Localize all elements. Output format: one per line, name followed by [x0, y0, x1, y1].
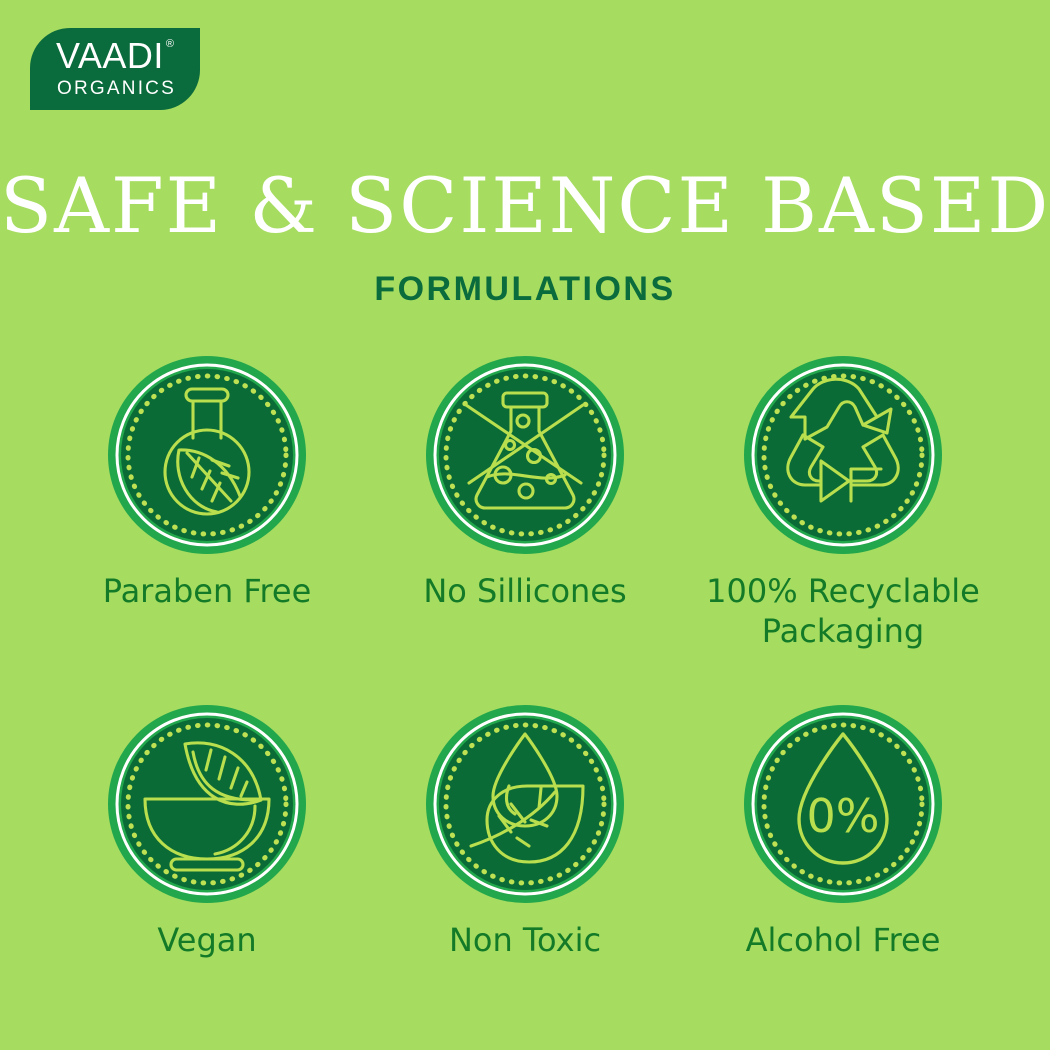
registered-trademark-icon: ®	[166, 39, 174, 50]
badge-alcohol-free[interactable]: 0% Alcohol Free	[684, 704, 1002, 960]
badge-label: Alcohol Free	[746, 920, 941, 960]
badge-recyclable-packaging[interactable]: 100% RecyclablePackaging	[684, 355, 1002, 652]
droplet-leaf-icon	[425, 704, 625, 904]
brand-tagline: ORGANICS	[57, 79, 176, 98]
feature-badge-grid: Paraben Free	[0, 355, 1050, 960]
badge-row-bottom: Vegan	[0, 704, 1050, 960]
brand-logo: VAADI ® ORGANICS	[30, 28, 200, 110]
badge-label: Non Toxic	[449, 920, 601, 960]
badge-row-top: Paraben Free	[0, 355, 1050, 652]
brand-name: VAADI	[56, 38, 164, 74]
flask-leaf-icon	[107, 355, 307, 555]
badge-label: No Sillicones	[423, 571, 626, 611]
badge-vegan[interactable]: Vegan	[48, 704, 366, 960]
brand-logo-wordmark: VAADI ®	[56, 38, 174, 74]
bowl-leaf-icon	[107, 704, 307, 904]
page-title: SAFE & SCIENCE BASED	[0, 168, 1050, 244]
page-subtitle: FORMULATIONS	[0, 272, 1050, 306]
badge-no-sillicones[interactable]: No Sillicones	[366, 355, 684, 611]
badge-label: Vegan	[157, 920, 256, 960]
recycle-icon	[743, 355, 943, 555]
badge-paraben-free[interactable]: Paraben Free	[48, 355, 366, 611]
badge-label: Paraben Free	[103, 571, 312, 611]
badge-label: 100% RecyclablePackaging	[706, 571, 980, 652]
droplet-zero-percent-icon: 0%	[743, 704, 943, 904]
badge-non-toxic[interactable]: Non Toxic	[366, 704, 684, 960]
crossed-flask-icon	[425, 355, 625, 555]
zero-percent-label: 0%	[807, 789, 880, 843]
